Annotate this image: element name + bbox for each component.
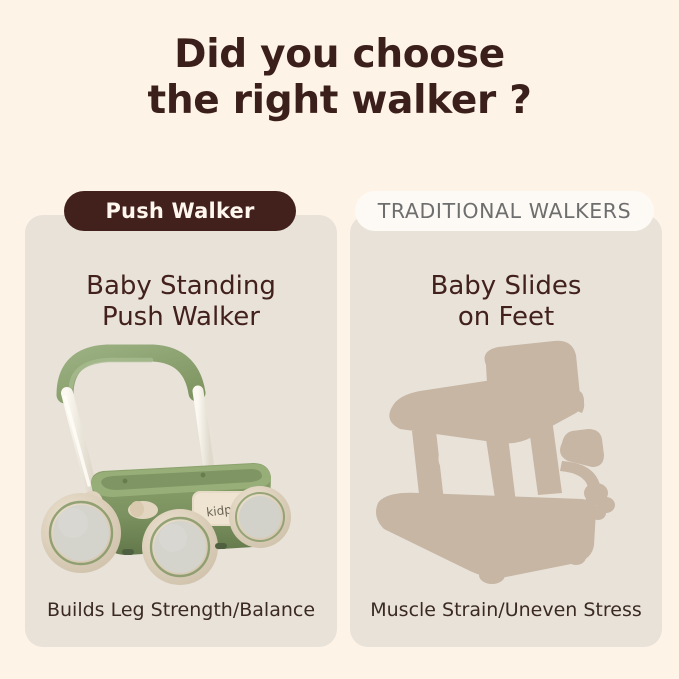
card-caption-left: Builds Leg Strength/Balance: [25, 599, 337, 621]
card-heading-right-line2: on Feet: [350, 302, 662, 333]
page-title-line1: Did you choose: [0, 32, 679, 78]
badge-traditional-walkers[interactable]: TRADITIONAL WALKERS: [355, 191, 654, 231]
traditional-walker-silhouette-shape: [376, 341, 615, 584]
comparison-cards: Baby Standing Push Walker: [25, 215, 654, 647]
card-heading-left-line2: Push Walker: [25, 302, 337, 333]
card-heading-right-line1: Baby Slides: [350, 271, 662, 302]
infographic-page: Did you choose the right walker ? Baby S…: [0, 0, 679, 679]
push-walker-illustration: kidpop: [25, 335, 337, 585]
card-caption-right: Muscle Strain/Uneven Stress: [350, 599, 662, 621]
card-heading-right: Baby Slides on Feet: [350, 271, 662, 333]
walker-wheel-front-left: [41, 493, 121, 573]
card-traditional-walker: Baby Slides on Feet: [350, 215, 662, 647]
card-heading-left: Baby Standing Push Walker: [25, 271, 337, 333]
badge-push-walker-label: Push Walker: [105, 199, 254, 223]
badge-push-walker[interactable]: Push Walker: [64, 191, 296, 231]
traditional-walker-illustration: [350, 335, 662, 585]
badge-traditional-walkers-label: TRADITIONAL WALKERS: [378, 199, 631, 223]
page-title: Did you choose the right walker ?: [0, 32, 679, 124]
walker-wheel-rear-right: [229, 486, 291, 548]
card-push-walker: Baby Standing Push Walker: [25, 215, 337, 647]
walker-wheel-front-right: [142, 509, 218, 585]
page-title-line2: the right walker ?: [0, 78, 679, 124]
walker-handle: [65, 353, 197, 395]
card-heading-left-line1: Baby Standing: [25, 271, 337, 302]
